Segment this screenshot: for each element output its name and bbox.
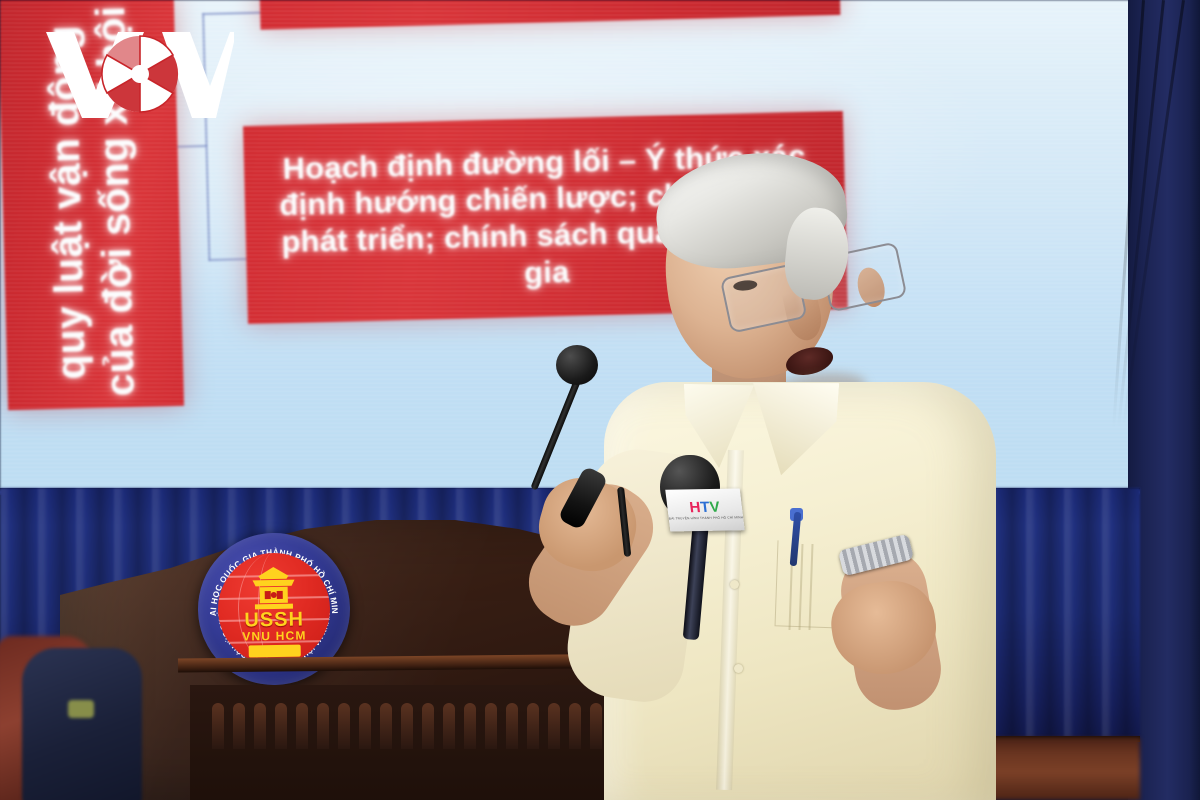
navy-backpack [22, 648, 142, 800]
htv-subtitle: ĐÀI TRUYỀN HÌNH THÀNH PHỐ HỒ CHÍ MINH [669, 515, 744, 520]
htv-mic-flag: HTV ĐÀI TRUYỀN HÌNH THÀNH PHỐ HỒ CHÍ MIN… [665, 489, 745, 532]
speaker-figure [600, 150, 1000, 800]
backpack-tag [68, 700, 94, 718]
shirt-button [734, 664, 743, 673]
htv-logo: HTV [689, 500, 721, 515]
pagoda-icon [242, 566, 305, 613]
pillar-fold [1122, 0, 1185, 426]
vov-aperture-icon [102, 36, 178, 112]
shirt-button [730, 580, 739, 589]
emblem-subline: VNU HCM [218, 628, 330, 644]
vov-watermark [44, 28, 234, 120]
slide-box-top: chức, cơ chế hoạt động và pháp lý [257, 0, 840, 30]
boom-microphone-head [556, 345, 598, 385]
emblem-plinth [249, 645, 301, 658]
photo-canvas: quy luật vận động của đời sống xã hội ch… [0, 0, 1200, 800]
htv-letter-v: V [709, 499, 721, 516]
connector-line-top [202, 11, 268, 15]
